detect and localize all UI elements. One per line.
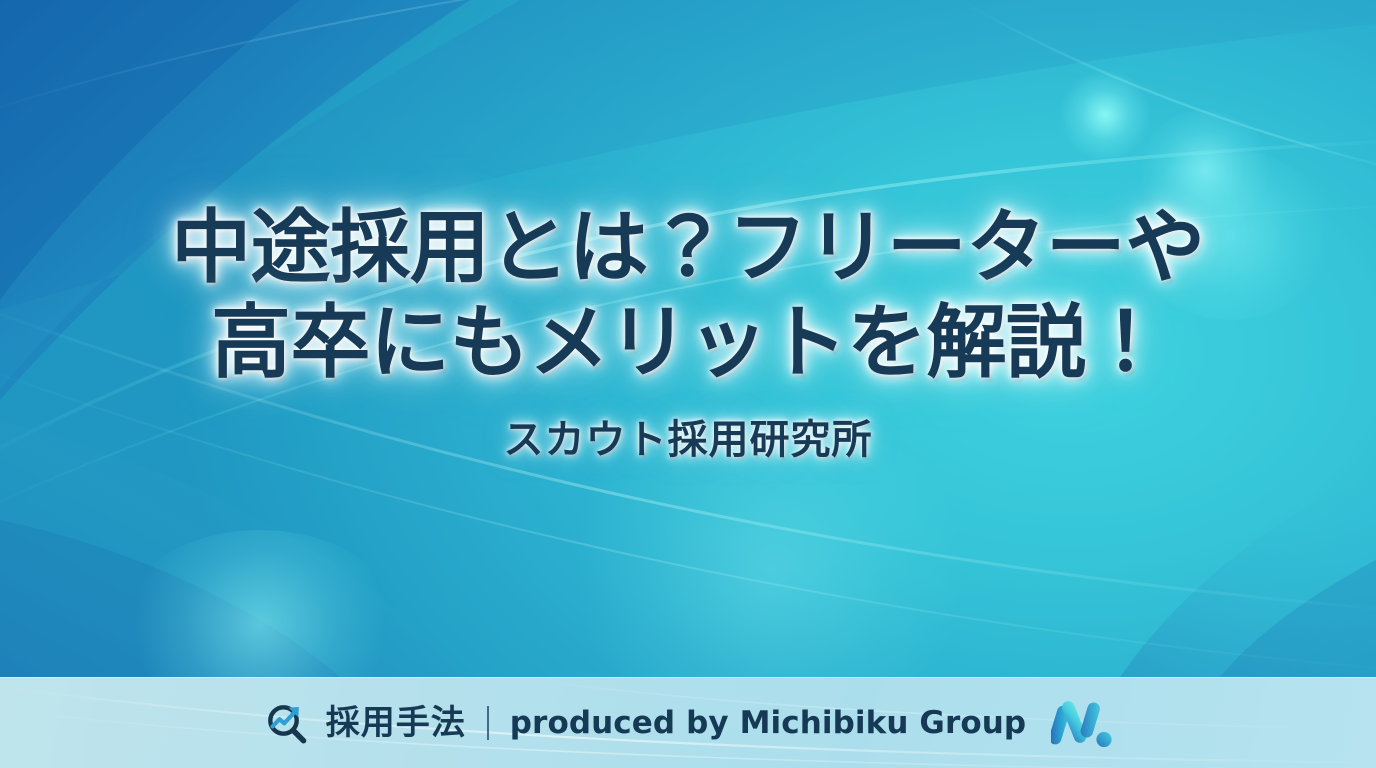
article-thumbnail-banner: 中途採用とは？フリーターや 高卒にもメリットを解説！ スカウト採用研究所 (0, 0, 1376, 768)
headline-block: 中途採用とは？フリーターや 高卒にもメリットを解説！ スカウト採用研究所 (0, 0, 1376, 677)
magnifier-trend-icon (263, 699, 311, 747)
page-subtitle: スカウト採用研究所 (504, 416, 873, 464)
footer-produced-by: produced by Michibiku Group (510, 708, 1026, 739)
footer-brand-label: 採用手法 (326, 706, 466, 740)
title-line-1: 中途採用とは？フリーターや (171, 201, 1205, 295)
title-line-2: 高卒にもメリットを解説！ (171, 296, 1205, 390)
footer-bar: 採用手法 produced by Michibiku Group (0, 677, 1376, 768)
michibiku-n-logo (1051, 697, 1113, 749)
footer-divider (487, 706, 489, 740)
footer-content: 採用手法 produced by Michibiku Group (263, 697, 1113, 749)
page-title: 中途採用とは？フリーターや 高卒にもメリットを解説！ (171, 201, 1205, 390)
